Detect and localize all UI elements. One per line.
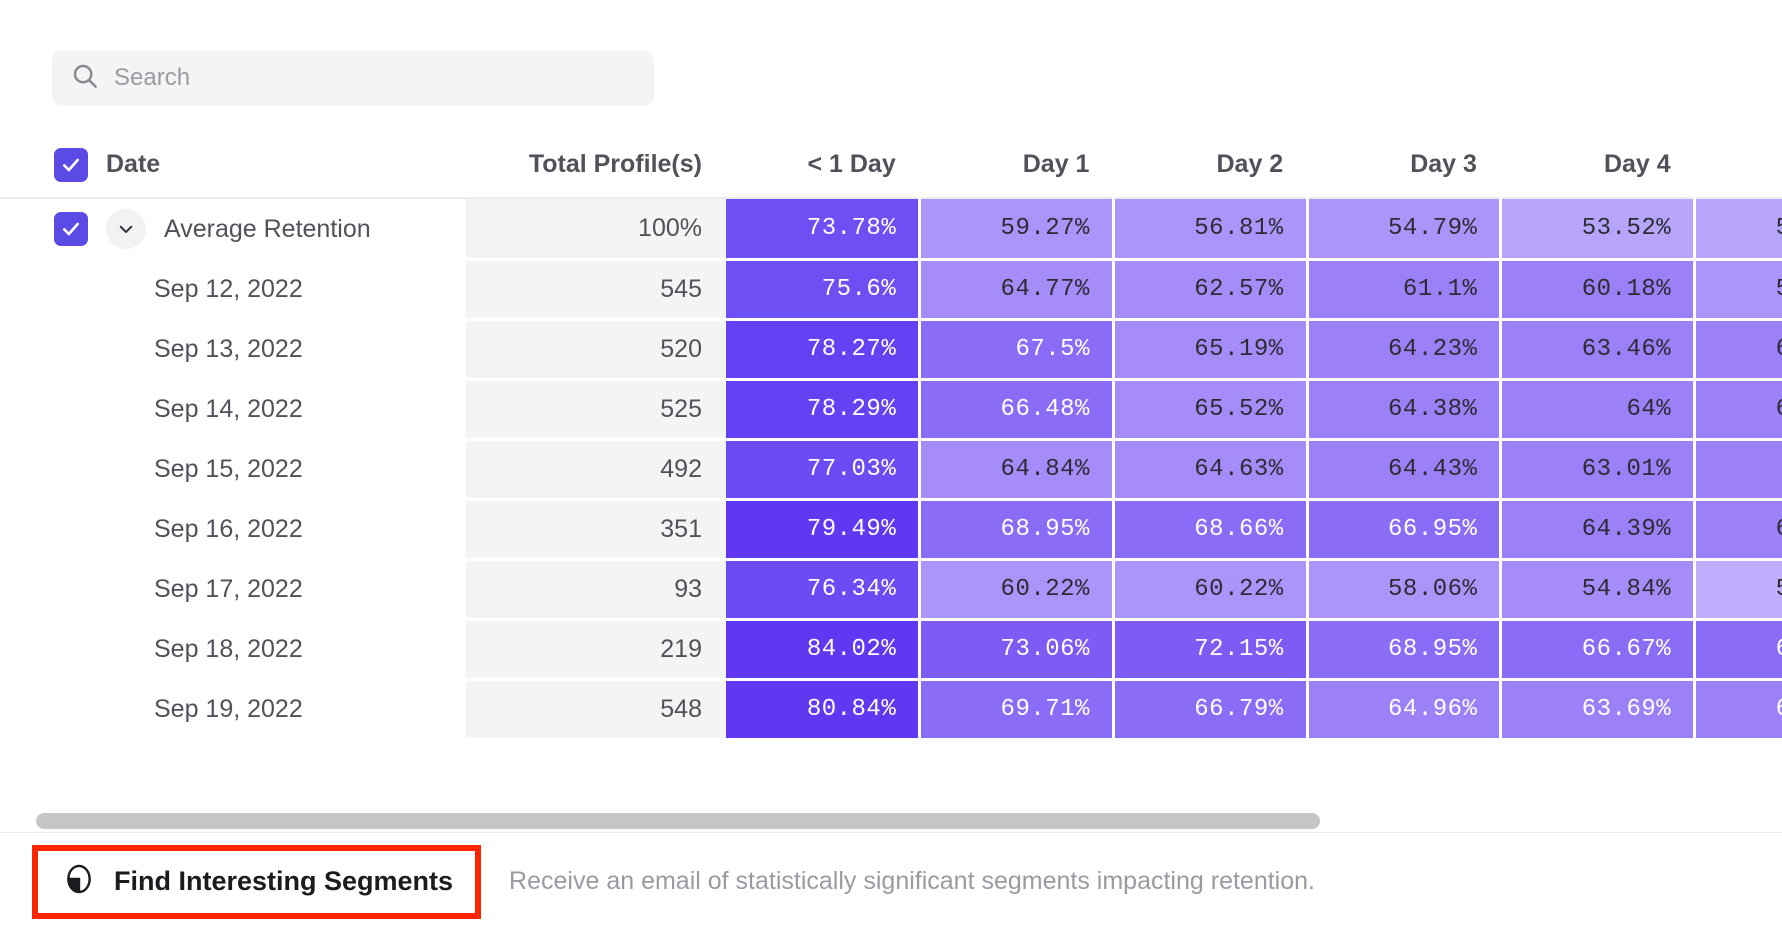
retention-cell[interactable]: 65.19% xyxy=(1113,319,1307,379)
retention-cell[interactable]: 53.26% xyxy=(1695,198,1782,259)
chevron-down-icon[interactable] xyxy=(106,209,146,249)
table-row[interactable]: Sep 17, 20229376.34%60.22%60.22%58.06%54… xyxy=(0,559,1782,619)
total-profiles-cell: 520 xyxy=(466,319,726,379)
retention-cell[interactable]: 64.39% xyxy=(1501,499,1695,559)
find-interesting-segments-label: Find Interesting Segments xyxy=(114,866,453,897)
table-row[interactable]: Average Retention100%73.78%59.27%56.81%5… xyxy=(0,198,1782,259)
bottom-banner: Find Interesting Segments Receive an ema… xyxy=(0,832,1782,930)
retention-cell[interactable]: 78.27% xyxy=(726,319,920,379)
retention-cell[interactable]: 63.32% xyxy=(1695,679,1782,739)
column-header-day-4[interactable]: Day 4 xyxy=(1501,132,1695,198)
retention-cell[interactable]: 66.79% xyxy=(1113,679,1307,739)
date-label: Average Retention xyxy=(164,215,371,244)
row-checkbox[interactable] xyxy=(54,212,88,246)
date-label: Sep 14, 2022 xyxy=(154,395,303,424)
search-icon xyxy=(70,61,100,96)
retention-cell[interactable]: 64.77% xyxy=(920,259,1114,319)
column-header-day-2[interactable]: Day 2 xyxy=(1113,132,1307,198)
retention-cell[interactable]: 65.52% xyxy=(1113,379,1307,439)
date-cell: Sep 14, 2022 xyxy=(0,379,466,439)
retention-cell[interactable]: 67.5% xyxy=(920,319,1114,379)
column-header-day-5[interactable]: Day 5 xyxy=(1695,132,1782,198)
retention-table-screen: Date Total Profile(s) < 1 Day Day 1 Day … xyxy=(0,0,1782,930)
retention-table-scroll-area[interactable]: Date Total Profile(s) < 1 Day Day 1 Day … xyxy=(0,132,1782,822)
retention-cell[interactable]: 68.95% xyxy=(1307,619,1501,679)
table-row[interactable]: Sep 15, 202249277.03%64.84%64.63%64.43%6… xyxy=(0,439,1782,499)
total-profiles-cell: 548 xyxy=(466,679,726,739)
retention-cell[interactable]: 63.69% xyxy=(1501,679,1695,739)
retention-cell[interactable]: 66.67% xyxy=(1501,619,1695,679)
retention-cell[interactable]: 54.79% xyxy=(1307,198,1501,259)
summary-row-label-cell: Average Retention xyxy=(0,198,466,259)
table-row[interactable]: Sep 12, 202254575.6%64.77%62.57%61.1%60.… xyxy=(0,259,1782,319)
retention-cell[interactable]: 63.25% xyxy=(1695,499,1782,559)
segment-pie-icon xyxy=(62,862,96,901)
date-cell: Sep 15, 2022 xyxy=(0,439,466,499)
table-row[interactable]: Sep 18, 202221984.02%73.06%72.15%68.95%6… xyxy=(0,619,1782,679)
banner-description: Receive an email of statistically signif… xyxy=(509,867,1315,896)
date-cell: Sep 13, 2022 xyxy=(0,319,466,379)
column-header-less-than-1-day[interactable]: < 1 Day xyxy=(726,132,920,198)
retention-cell[interactable]: 66.95% xyxy=(1307,499,1501,559)
retention-cell[interactable]: 56.81% xyxy=(1113,198,1307,259)
retention-cell[interactable]: 59.27% xyxy=(920,198,1114,259)
table-row[interactable]: Sep 19, 202254880.84%69.71%66.79%64.96%6… xyxy=(0,679,1782,739)
table-row[interactable]: Sep 13, 202252078.27%67.5%65.19%64.23%63… xyxy=(0,319,1782,379)
date-cell: Sep 17, 2022 xyxy=(0,559,466,619)
date-label: Sep 18, 2022 xyxy=(154,635,303,664)
table-header: Date Total Profile(s) < 1 Day Day 1 Day … xyxy=(0,132,1782,198)
retention-cell[interactable]: 68.95% xyxy=(920,499,1114,559)
total-profiles-cell: 351 xyxy=(466,499,726,559)
retention-cell[interactable]: 60.18% xyxy=(1501,259,1695,319)
retention-cell[interactable]: 63.46% xyxy=(1501,319,1695,379)
total-profiles-cell: 93 xyxy=(466,559,726,619)
retention-cell[interactable]: 76.34% xyxy=(726,559,920,619)
retention-cell[interactable]: 75.6% xyxy=(726,259,920,319)
retention-cell[interactable]: 78.29% xyxy=(726,379,920,439)
retention-cell[interactable]: 73.06% xyxy=(920,619,1114,679)
retention-cell[interactable]: 61.1% xyxy=(1307,259,1501,319)
header-row: Date Total Profile(s) < 1 Day Day 1 Day … xyxy=(0,132,1782,198)
retention-cell[interactable]: 51.61% xyxy=(1695,559,1782,619)
retention-cell[interactable]: 62.69% xyxy=(1695,319,1782,379)
retention-cell[interactable]: 64.96% xyxy=(1307,679,1501,739)
retention-table: Date Total Profile(s) < 1 Day Day 1 Day … xyxy=(0,132,1782,741)
retention-cell[interactable]: 59.27% xyxy=(1695,259,1782,319)
column-header-day-1[interactable]: Day 1 xyxy=(920,132,1114,198)
date-cell: Sep 18, 2022 xyxy=(0,619,466,679)
retention-cell[interactable]: 73.78% xyxy=(726,198,920,259)
retention-cell[interactable]: 60.22% xyxy=(920,559,1114,619)
retention-cell[interactable]: 77.03% xyxy=(726,439,920,499)
retention-cell[interactable]: 72.15% xyxy=(1113,619,1307,679)
table-row[interactable]: Sep 14, 202252578.29%66.48%65.52%64.38%6… xyxy=(0,379,1782,439)
date-cell: Sep 16, 2022 xyxy=(0,499,466,559)
retention-cell[interactable]: 63.24% xyxy=(1695,379,1782,439)
column-header-label: Date xyxy=(106,150,160,179)
retention-cell[interactable]: 63.01% xyxy=(1501,439,1695,499)
find-interesting-segments-button[interactable]: Find Interesting Segments xyxy=(32,845,481,919)
retention-cell[interactable]: 64.63% xyxy=(1113,439,1307,499)
select-all-checkbox[interactable] xyxy=(54,148,88,182)
date-label: Sep 16, 2022 xyxy=(154,515,303,544)
retention-cell[interactable]: 60.22% xyxy=(1113,559,1307,619)
date-label: Sep 19, 2022 xyxy=(154,695,303,724)
total-profiles-cell: 525 xyxy=(466,379,726,439)
date-label: Sep 17, 2022 xyxy=(154,575,303,604)
retention-cell[interactable]: 53.52% xyxy=(1501,198,1695,259)
retention-cell[interactable]: 62.57% xyxy=(1113,259,1307,319)
total-profiles-cell: 219 xyxy=(466,619,726,679)
column-header-total-profiles[interactable]: Total Profile(s) xyxy=(466,132,726,198)
retention-cell[interactable]: 64% xyxy=(1501,379,1695,439)
retention-cell[interactable]: 58.06% xyxy=(1307,559,1501,619)
retention-cell[interactable]: 64.38% xyxy=(1307,379,1501,439)
column-header-date[interactable]: Date xyxy=(0,132,466,198)
date-label: Sep 13, 2022 xyxy=(154,335,303,364)
retention-cell[interactable]: 68.66% xyxy=(1113,499,1307,559)
retention-cell[interactable]: 64.84% xyxy=(920,439,1114,499)
date-label: Sep 12, 2022 xyxy=(154,275,303,304)
retention-cell[interactable]: 84.02% xyxy=(726,619,920,679)
retention-cell[interactable]: 64.43% xyxy=(1307,439,1501,499)
total-profiles-cell: 545 xyxy=(466,259,726,319)
search-input[interactable] xyxy=(114,64,636,92)
retention-cell[interactable]: 64.23% xyxy=(1307,319,1501,379)
retention-cell[interactable]: 69.71% xyxy=(920,679,1114,739)
retention-cell[interactable]: 79.49% xyxy=(726,499,920,559)
column-header-day-3[interactable]: Day 3 xyxy=(1307,132,1501,198)
date-cell: Sep 19, 2022 xyxy=(0,679,466,739)
retention-cell[interactable]: 62.6% xyxy=(1695,439,1782,499)
retention-cell[interactable]: 66.21% xyxy=(1695,619,1782,679)
horizontal-scrollbar-thumb[interactable] xyxy=(36,813,1320,829)
total-profiles-cell: 492 xyxy=(466,439,726,499)
table-body: Average Retention100%73.78%59.27%56.81%5… xyxy=(0,198,1782,739)
search-bar[interactable] xyxy=(52,50,654,106)
date-label: Sep 15, 2022 xyxy=(154,455,303,484)
total-profiles-cell: 100% xyxy=(466,198,726,259)
retention-cell[interactable]: 80.84% xyxy=(726,679,920,739)
retention-cell[interactable]: 54.84% xyxy=(1501,559,1695,619)
retention-cell[interactable]: 66.48% xyxy=(920,379,1114,439)
date-cell: Sep 12, 2022 xyxy=(0,259,466,319)
table-row[interactable]: Sep 16, 202235179.49%68.95%68.66%66.95%6… xyxy=(0,499,1782,559)
